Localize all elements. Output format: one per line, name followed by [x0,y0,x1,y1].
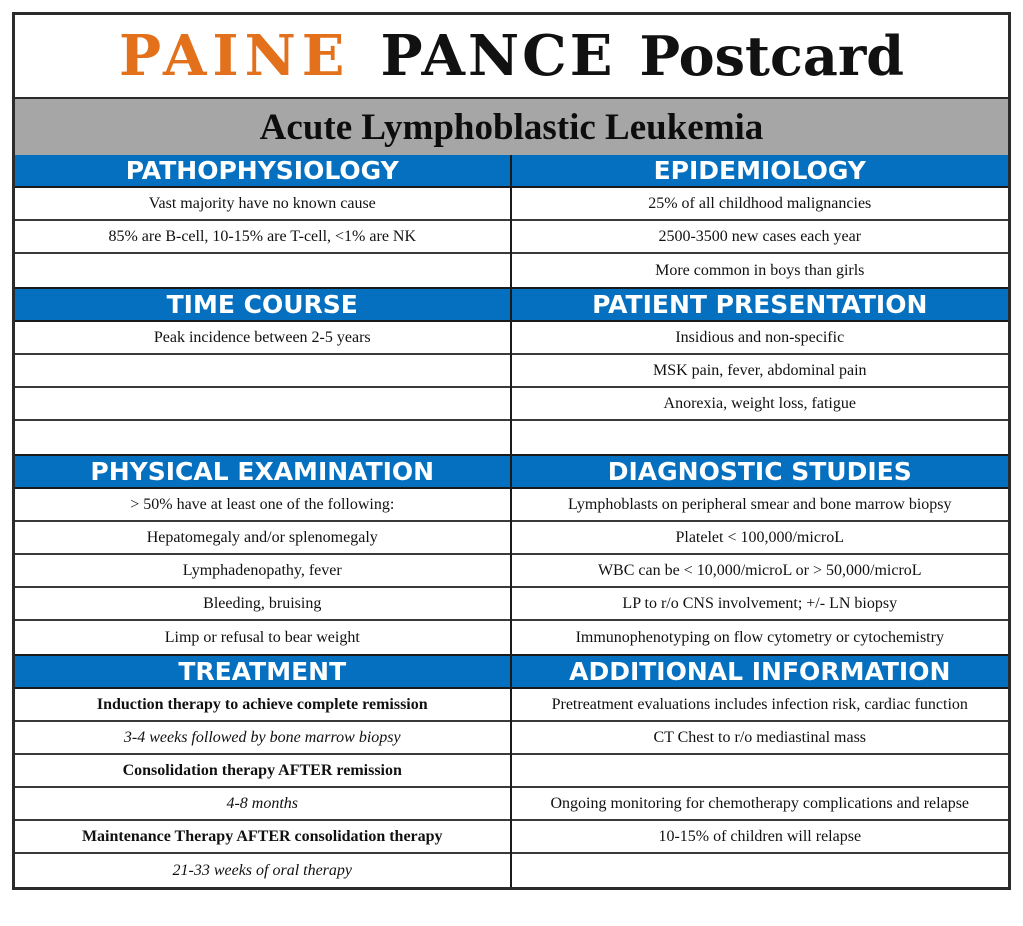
section-epidemiology: EPIDEMIOLOGY25% of all childhood maligna… [512,155,1009,287]
table-row: 3-4 weeks followed by bone marrow biopsy [15,722,510,755]
row-text: 10-15% of children will relapse [658,828,861,846]
row-text: Ongoing monitoring for chemotherapy comp… [550,795,969,813]
row-text: Insidious and non-specific [675,329,844,347]
table-row: Anorexia, weight loss, fatigue [512,388,1009,421]
section-patient-presentation: PATIENT PRESENTATIONInsidious and non-sp… [512,289,1009,454]
section-header-pathophysiology: PATHOPHYSIOLOGY [15,155,510,188]
section-header-label: EPIDEMIOLOGY [654,158,866,183]
section-header-label: PATIENT PRESENTATION [592,292,927,317]
row-text: > 50% have at least one of the following… [130,496,394,514]
table-row: 4-8 months [15,788,510,821]
row-text: WBC can be < 10,000/microL or > 50,000/m… [598,562,922,580]
table-row: > 50% have at least one of the following… [15,489,510,522]
section-header-time-course: TIME COURSE [15,289,510,322]
empty-row [15,254,510,287]
table-row: Vast majority have no known cause [15,188,510,221]
section-header-diagnostic-studies: DIAGNOSTIC STUDIES [512,456,1009,489]
row-text: Peak incidence between 2-5 years [154,329,371,347]
brand-pance: PANCE [381,28,616,84]
empty-row [512,755,1009,788]
section-header-treatment: TREATMENT [15,656,510,689]
row-text: Consolidation therapy AFTER remission [123,762,402,780]
row-text: 85% are B-cell, 10-15% are T-cell, <1% a… [108,228,416,246]
row-text: Vast majority have no known cause [149,195,376,213]
section-band: TIME COURSEPeak incidence between 2-5 ye… [15,289,1008,456]
pance-postcard: PAINE PANCE Postcard Acute Lymphoblastic… [12,12,1011,890]
table-row: CT Chest to r/o mediastinal mass [512,722,1009,755]
section-header-label: PATHOPHYSIOLOGY [126,158,399,183]
table-row: 2500-3500 new cases each year [512,221,1009,254]
table-row: Lymphadenopathy, fever [15,555,510,588]
row-text: Hepatomegaly and/or splenomegaly [147,529,378,547]
empty-row [15,388,510,421]
section-pathophysiology: PATHOPHYSIOLOGYVast majority have no kno… [15,155,512,287]
row-text: 4-8 months [226,795,298,813]
section-treatment: TREATMENTInduction therapy to achieve co… [15,656,512,887]
row-text: Lymphadenopathy, fever [183,562,342,580]
sections-container: PATHOPHYSIOLOGYVast majority have no kno… [15,155,1008,887]
table-row: Maintenance Therapy AFTER consolidation … [15,821,510,854]
brand-header: PAINE PANCE Postcard [15,15,1008,97]
table-row: 21-33 weeks of oral therapy [15,854,510,887]
section-header-label: DIAGNOSTIC STUDIES [608,459,912,484]
row-text: 3-4 weeks followed by bone marrow biopsy [124,729,401,747]
row-text: Anorexia, weight loss, fatigue [664,395,856,413]
table-row: Limp or refusal to bear weight [15,621,510,654]
section-header-label: TREATMENT [178,659,346,684]
page-title: Acute Lymphoblastic Leukemia [260,109,764,146]
row-text: Induction therapy to achieve complete re… [97,696,428,714]
empty-row [15,421,510,454]
row-text: LP to r/o CNS involvement; +/- LN biopsy [622,595,897,613]
section-header-physical-examination: PHYSICAL EXAMINATION [15,456,510,489]
row-text: Pretreatment evaluations includes infect… [552,696,968,714]
section-header-additional-information: ADDITIONAL INFORMATION [512,656,1009,689]
table-row: Peak incidence between 2-5 years [15,322,510,355]
table-row: 25% of all childhood malignancies [512,188,1009,221]
table-row: Ongoing monitoring for chemotherapy comp… [512,788,1009,821]
empty-row [512,421,1009,454]
section-header-label: ADDITIONAL INFORMATION [569,659,950,684]
row-text: More common in boys than girls [655,262,864,280]
table-row: Pretreatment evaluations includes infect… [512,689,1009,722]
row-text: Lymphoblasts on peripheral smear and bon… [568,496,951,514]
table-row: Platelet < 100,000/microL [512,522,1009,555]
row-text: 21-33 weeks of oral therapy [172,862,352,880]
row-text: Immunophenotyping on flow cytometry or c… [576,629,944,647]
section-physical-examination: PHYSICAL EXAMINATION> 50% have at least … [15,456,512,654]
table-row: Bleeding, bruising [15,588,510,621]
row-text: Bleeding, bruising [203,595,321,613]
row-text: Maintenance Therapy AFTER consolidation … [82,828,443,846]
section-band: PHYSICAL EXAMINATION> 50% have at least … [15,456,1008,656]
table-row: Induction therapy to achieve complete re… [15,689,510,722]
section-diagnostic-studies: DIAGNOSTIC STUDIESLymphoblasts on periph… [512,456,1009,654]
section-header-epidemiology: EPIDEMIOLOGY [512,155,1009,188]
row-text: 2500-3500 new cases each year [658,228,861,246]
table-row: MSK pain, fever, abdominal pain [512,355,1009,388]
section-header-label: PHYSICAL EXAMINATION [90,459,434,484]
table-row: More common in boys than girls [512,254,1009,287]
row-text: CT Chest to r/o mediastinal mass [653,729,866,747]
table-row: LP to r/o CNS involvement; +/- LN biopsy [512,588,1009,621]
row-text: Platelet < 100,000/microL [675,529,844,547]
row-text: Limp or refusal to bear weight [165,629,360,647]
disease-title-bar: Acute Lymphoblastic Leukemia [15,97,1008,155]
section-band: PATHOPHYSIOLOGYVast majority have no kno… [15,155,1008,289]
table-row: Immunophenotyping on flow cytometry or c… [512,621,1009,654]
table-row: 10-15% of children will relapse [512,821,1009,854]
table-row: Insidious and non-specific [512,322,1009,355]
section-time-course: TIME COURSEPeak incidence between 2-5 ye… [15,289,512,454]
empty-row [15,355,510,388]
table-row: Hepatomegaly and/or splenomegaly [15,522,510,555]
table-row: 85% are B-cell, 10-15% are T-cell, <1% a… [15,221,510,254]
row-text: MSK pain, fever, abdominal pain [653,362,867,380]
brand-paine: PAINE [119,28,351,84]
empty-row [512,854,1009,887]
row-text: 25% of all childhood malignancies [648,195,871,213]
table-row: Lymphoblasts on peripheral smear and bon… [512,489,1009,522]
section-header-label: TIME COURSE [167,292,358,317]
section-band: TREATMENTInduction therapy to achieve co… [15,656,1008,887]
table-row: WBC can be < 10,000/microL or > 50,000/m… [512,555,1009,588]
section-header-patient-presentation: PATIENT PRESENTATION [512,289,1009,322]
table-row: Consolidation therapy AFTER remission [15,755,510,788]
brand-postcard: Postcard [639,29,904,83]
section-additional-information: ADDITIONAL INFORMATIONPretreatment evalu… [512,656,1009,887]
